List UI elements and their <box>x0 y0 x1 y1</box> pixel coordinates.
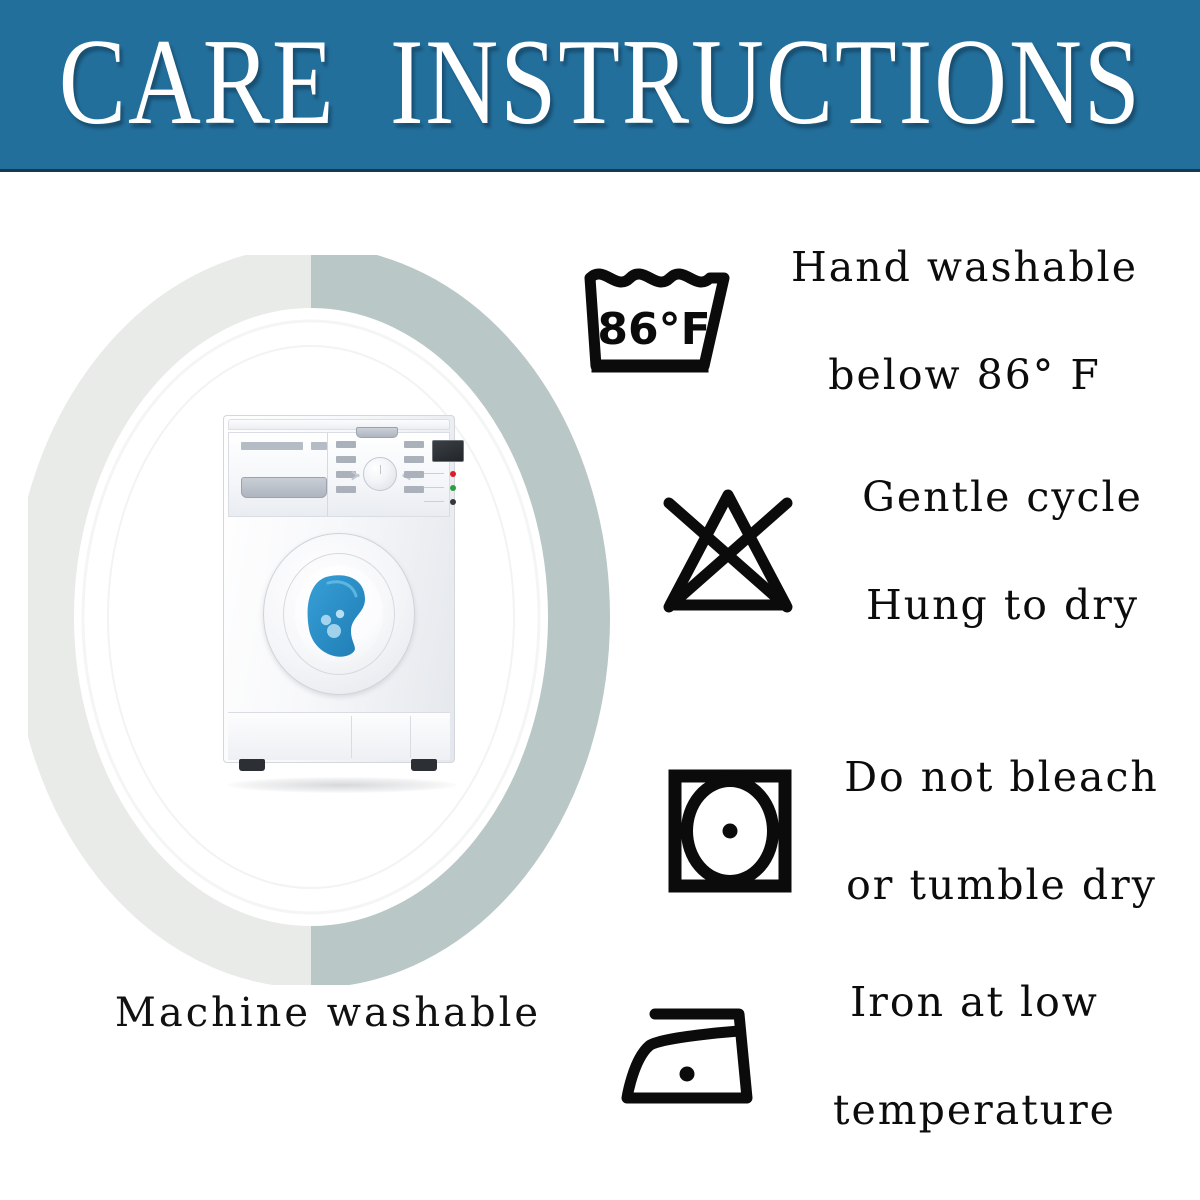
care-symbol-line-2: Hung to dry <box>825 578 1180 632</box>
washer-lcd-display <box>432 440 464 462</box>
hand-wash-tub-icon: 86°F <box>568 262 743 380</box>
hand-wash-temperature-label: 86°F <box>597 304 710 355</box>
program-button <box>404 471 424 478</box>
care-symbol-row: Do not bleach or tumble dry <box>560 751 1190 911</box>
iron-low-temperature-icon <box>602 1000 777 1112</box>
washer-body <box>223 415 455 763</box>
status-led-dark <box>450 499 456 505</box>
care-symbol-text: Gentle cycle Hung to dry <box>825 416 1190 687</box>
header-banner: CARE INSTRUCTIONS <box>0 0 1200 172</box>
care-symbol-line-2: temperature <box>777 1083 1172 1137</box>
care-instructions-page: CARE INSTRUCTIONS <box>0 0 1200 1200</box>
washer-top-lid <box>228 419 450 430</box>
program-button <box>336 456 356 463</box>
panel-indicator-bar-small <box>311 442 327 450</box>
detergent-drawer-handle <box>241 477 327 498</box>
status-led-green <box>450 485 456 491</box>
panel-indicator-bar <box>241 442 303 450</box>
washer-door-ring <box>283 553 395 675</box>
washer-foot-right <box>411 759 437 771</box>
washer-control-panel <box>228 432 450 517</box>
tumble-dry-square-icon <box>642 766 817 896</box>
washer-door <box>263 533 415 695</box>
care-symbol-row: 86°F Hand washable below 86° F <box>560 236 1190 406</box>
washer-shadow <box>227 777 457 793</box>
care-symbol-line-1: Gentle cycle <box>825 470 1180 524</box>
do-not-bleach-triangle-icon <box>640 481 815 621</box>
machine-washable-caption: Machine washable <box>28 990 628 1036</box>
status-led-red <box>450 471 456 477</box>
program-button <box>336 486 356 493</box>
care-symbol-row: Gentle cycle Hung to dry <box>560 466 1190 636</box>
care-symbol-text: Iron at low temperature <box>777 921 1190 1192</box>
detergent-drawer-area <box>229 433 328 516</box>
machine-washable-illustration: Machine washable <box>28 255 628 995</box>
program-button-column-left <box>336 441 356 493</box>
washer-foot-left <box>239 759 265 771</box>
laundry-water-blob <box>295 565 383 663</box>
care-symbol-line-1: Do not bleach <box>817 750 1186 804</box>
washer-filter-compartment <box>351 716 411 758</box>
care-symbol-row: Iron at low temperature <box>560 981 1190 1131</box>
care-symbol-line-1: Iron at low <box>777 975 1172 1029</box>
program-button <box>404 486 424 493</box>
program-button <box>404 441 424 448</box>
care-symbol-line-2: below 86° F <box>747 348 1182 402</box>
program-selector-dial <box>363 457 397 491</box>
washer-filter-handle <box>356 427 398 438</box>
page-title: CARE INSTRUCTIONS <box>58 21 1141 148</box>
program-button-column-right <box>404 441 424 493</box>
program-controls-area <box>328 433 449 516</box>
program-button <box>336 441 356 448</box>
program-button <box>404 456 424 463</box>
care-symbol-list: 86°F Hand washable below 86° F Gentle cy… <box>560 236 1190 1136</box>
care-symbol-line-1: Hand washable <box>747 240 1182 294</box>
washing-machine-illustration <box>213 415 468 785</box>
care-symbol-line-2: or tumble dry <box>817 858 1186 912</box>
washer-door-glass <box>295 565 383 663</box>
washer-bottom-panel <box>228 712 450 760</box>
